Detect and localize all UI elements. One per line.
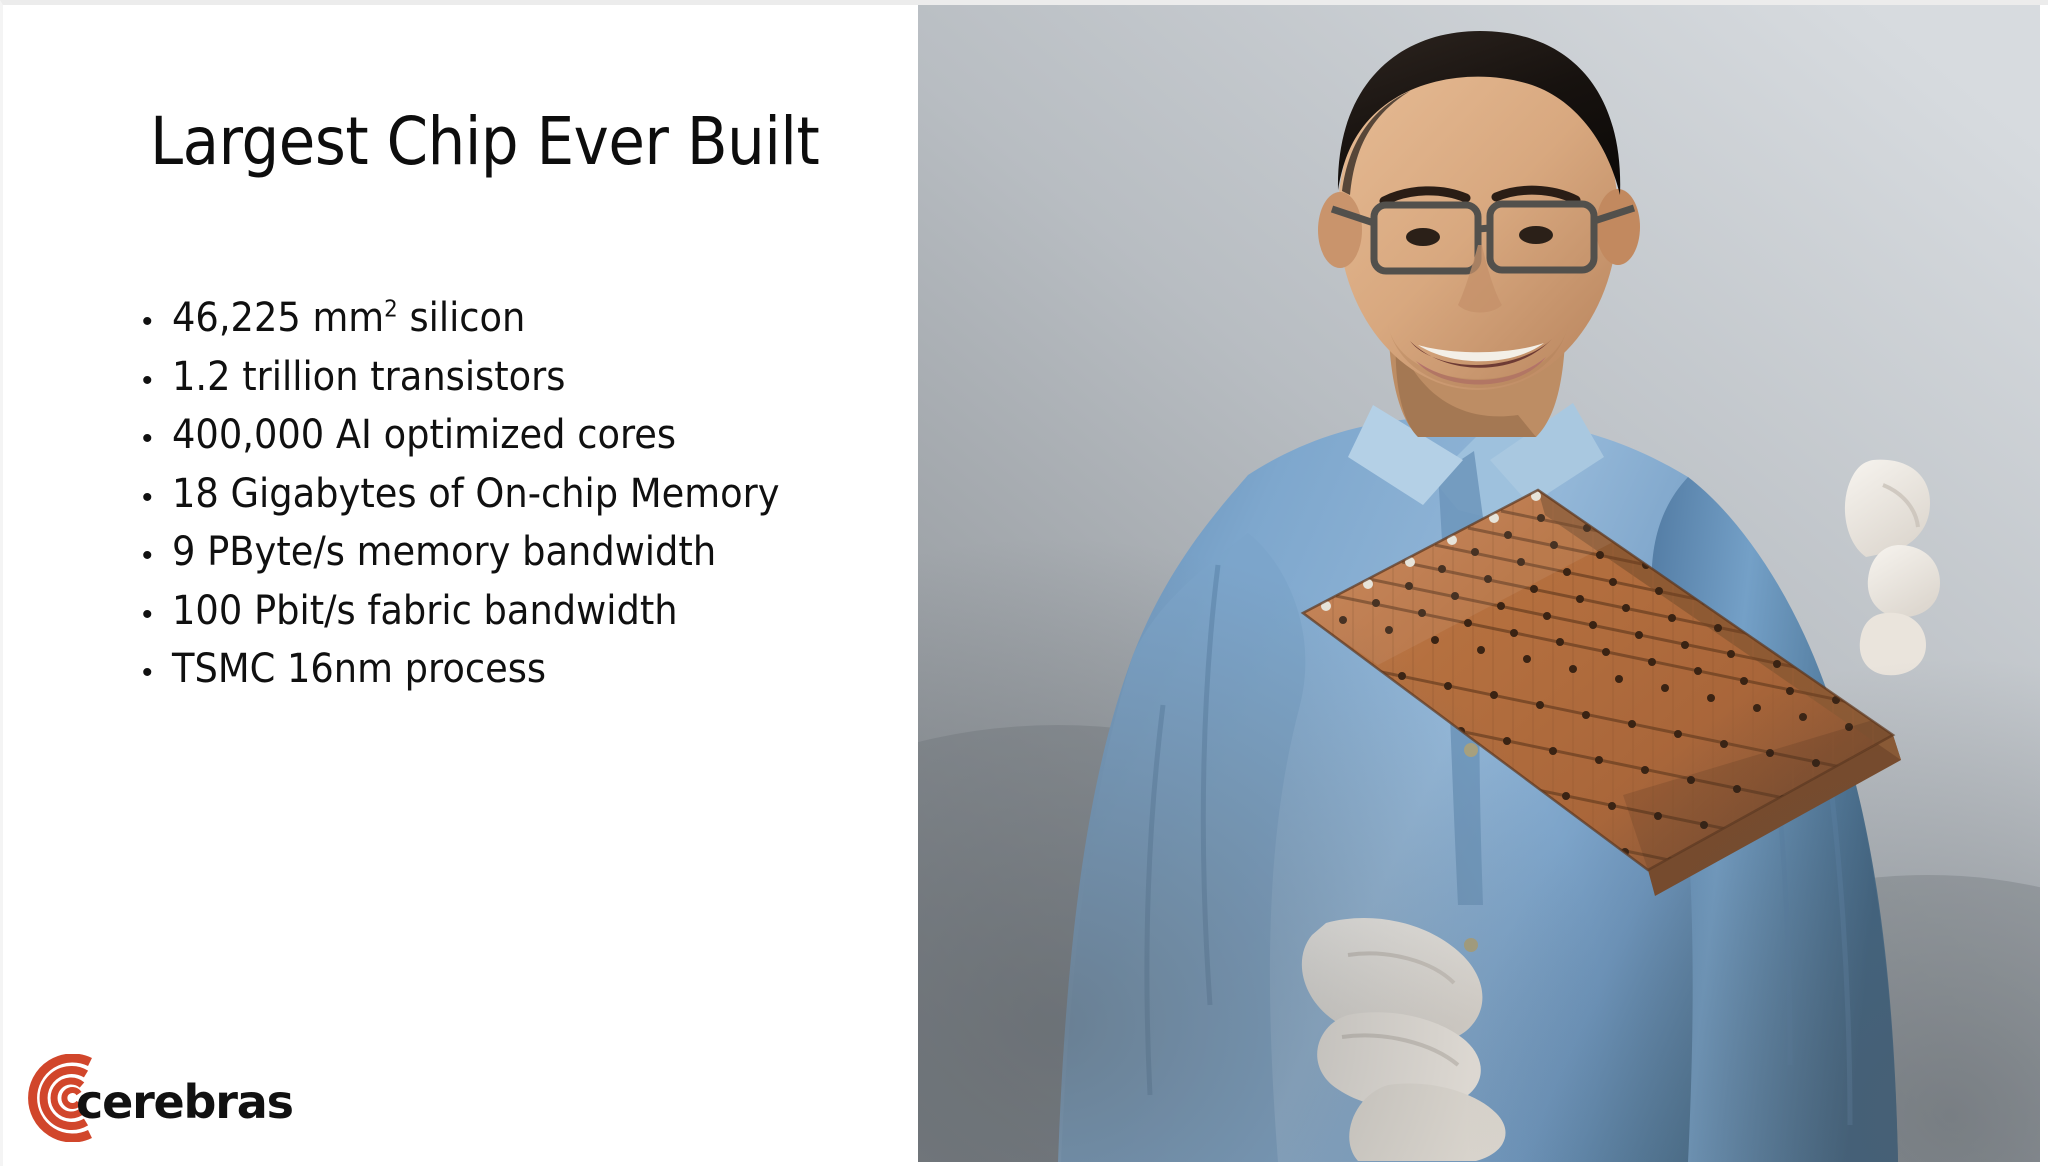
bullet-marker-icon: • xyxy=(138,658,172,688)
list-item: • 100 Pbit/s fabric bandwidth xyxy=(138,591,898,650)
bullet-text: 1.2 trillion transistors xyxy=(172,357,565,397)
bullet-text-tail: silicon xyxy=(398,295,526,341)
bullet-marker-icon: • xyxy=(138,307,172,337)
chip-photo-illustration xyxy=(918,5,2040,1162)
bullet-text: 46,225 mm2 silicon xyxy=(172,298,525,338)
bullet-marker-icon: • xyxy=(138,424,172,454)
bullet-text-main: 46,225 mm xyxy=(172,295,384,341)
bullet-marker-icon: • xyxy=(138,541,172,571)
page-title: Largest Chip Ever Built xyxy=(150,103,819,180)
list-item: • 46,225 mm2 silicon xyxy=(138,298,898,357)
bullet-superscript: 2 xyxy=(384,296,398,323)
bullet-list: • 46,225 mm2 silicon • 1.2 trillion tran… xyxy=(138,298,898,708)
cerebras-wordmark: cerebras xyxy=(76,1075,293,1129)
bullet-text: 400,000 AI optimized cores xyxy=(172,415,676,455)
bullet-marker-icon: • xyxy=(138,600,172,630)
slide-text-pane: Largest Chip Ever Built • 46,225 mm2 sil… xyxy=(0,0,918,1166)
list-item: • 9 PByte/s memory bandwidth xyxy=(138,532,898,591)
list-item: • 18 Gigabytes of On-chip Memory xyxy=(138,474,898,533)
cerebras-logo: cerebras xyxy=(24,1048,244,1148)
list-item: • 1.2 trillion transistors xyxy=(138,357,898,416)
list-item: • TSMC 16nm process xyxy=(138,649,898,708)
bullet-text: 100 Pbit/s fabric bandwidth xyxy=(172,591,678,631)
bullet-text: TSMC 16nm process xyxy=(172,649,546,689)
chip-photo xyxy=(918,5,2040,1162)
bullet-marker-icon: • xyxy=(138,366,172,396)
list-item: • 400,000 AI optimized cores xyxy=(138,415,898,474)
slide: Largest Chip Ever Built • 46,225 mm2 sil… xyxy=(0,0,2048,1166)
bullet-text: 9 PByte/s memory bandwidth xyxy=(172,532,716,572)
bullet-text: 18 Gigabytes of On-chip Memory xyxy=(172,474,779,514)
bullet-marker-icon: • xyxy=(138,483,172,513)
